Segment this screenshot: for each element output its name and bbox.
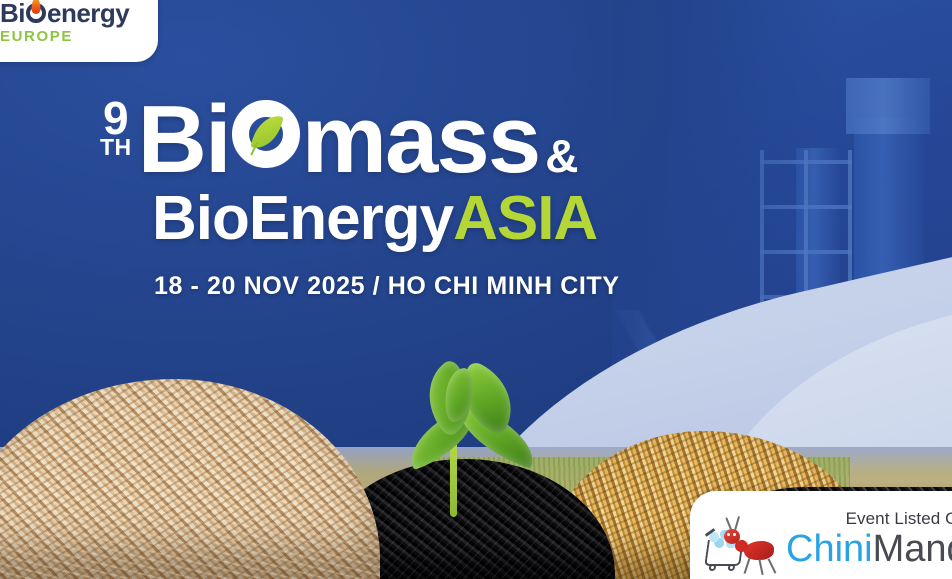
cart-wheel [727, 564, 735, 571]
brand-part2: Mandi [873, 528, 952, 570]
title-part1: Bi [138, 96, 230, 184]
ant-with-cart-icon [704, 506, 778, 572]
seedling-plant-image [352, 387, 562, 517]
cart-wheel [708, 564, 716, 571]
headline-block: 9 TH Bi mass & BioEnergyASIA 18 - 20 NOV… [100, 96, 820, 301]
brand-part1: Chini [786, 528, 873, 570]
wood-pellet-pile-image [0, 379, 380, 579]
ordinal-suffix: TH [100, 138, 132, 157]
chinimandi-listing-badge[interactable]: Event Listed O ChiniMandi [690, 491, 952, 579]
ant-head [724, 529, 740, 544]
plant-stem [450, 439, 457, 517]
leaf-shape [250, 112, 283, 153]
event-dates-location: 18 - 20 NOV 2025 / HO CHI MINH CITY [154, 272, 820, 301]
title-biomass: Bi mass & [138, 96, 577, 184]
logo-word-part1: Bi [0, 0, 25, 26]
ant-leg [768, 558, 777, 573]
logo-wordmark: Bi energy [0, 0, 158, 26]
logo-subtitle: EUROPE [0, 29, 158, 44]
chinimandi-text-group: Event Listed O ChiniMandi [778, 509, 952, 570]
flame-o-icon [26, 3, 46, 23]
logo-word-part2: energy [47, 0, 129, 26]
title-part2: mass [302, 96, 540, 184]
leaf-icon [232, 100, 300, 168]
event-listed-label: Event Listed O [786, 509, 952, 529]
flame-icon [32, 0, 41, 14]
subtitle-bioenergy: BioEnergy [152, 184, 453, 253]
event-promo-banner: Bi energy EUROPE 9 TH Bi mass & Bi [0, 0, 952, 579]
ampersand: & [545, 135, 576, 177]
edition-ordinal: 9 TH [100, 96, 132, 157]
bioenergy-europe-logo[interactable]: Bi energy EUROPE [0, 0, 158, 62]
subtitle-asia: ASIA [453, 184, 597, 253]
headline-line-1: 9 TH Bi mass & [100, 96, 820, 184]
chinimandi-wordmark: ChiniMandi [786, 530, 952, 570]
ordinal-number: 9 [103, 100, 129, 138]
ant-leg [744, 558, 751, 574]
headline-line-2: BioEnergyASIA [152, 188, 820, 250]
ant-leg [758, 559, 763, 575]
